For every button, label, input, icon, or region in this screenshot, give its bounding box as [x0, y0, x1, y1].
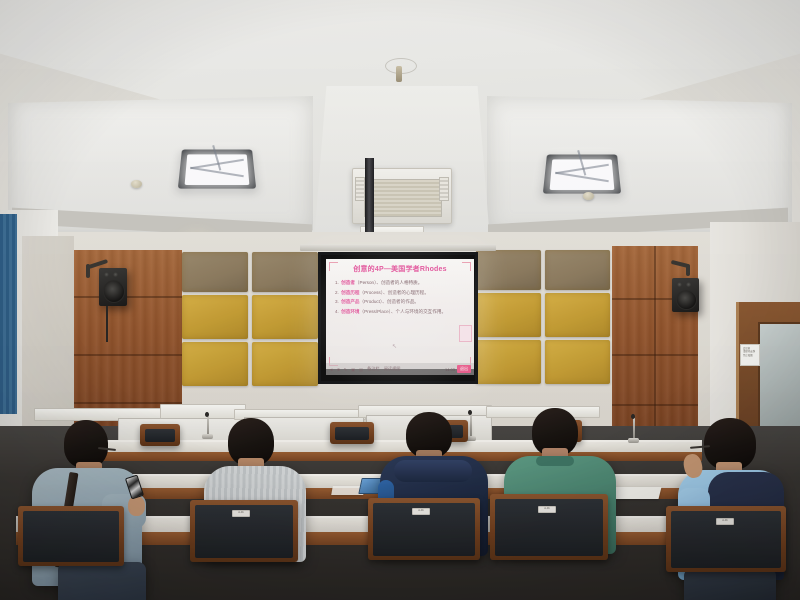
chair-number-tag: A-01: [412, 508, 430, 515]
speaker-tweeter-icon: [113, 272, 118, 277]
bullet-text: 、创造者的人格特质。: [376, 280, 422, 285]
bullet-keyword: 创造产品: [341, 299, 359, 304]
speaker-bracket-right-post: [686, 264, 690, 276]
acoustic-panel: [476, 250, 541, 290]
chair-tag-text: A-01: [539, 507, 555, 511]
chair-cushion: [335, 427, 369, 440]
ceiling-lamp-left: [180, 145, 254, 191]
bullet-english: （Product）: [360, 299, 383, 304]
window-curtain: [0, 214, 17, 414]
acoustic-panel: [545, 340, 610, 384]
taskbar-item-2[interactable]: ✎: [344, 367, 348, 372]
taskbar-notes-button[interactable]: 备注栏: [367, 366, 380, 372]
acoustic-panel: [545, 250, 610, 290]
smoke-detector-icon: [583, 192, 594, 200]
slide-bullet-list: 1. 创造者（Person）、创造者的人格特质。 2. 创造历程（Process…: [335, 279, 467, 317]
bullet-keyword: 创造历程: [341, 290, 359, 295]
slide-bullet-2: 2. 创造历程（Process）、创造者的心理历程。: [335, 289, 467, 296]
wood-seam: [74, 296, 182, 298]
chair-cushion: [23, 511, 119, 562]
wall-speaker-left: [99, 268, 127, 306]
acoustic-panel-grid-right: [476, 250, 614, 388]
taskbar-reading-view-button[interactable]: 阅读视图: [384, 366, 401, 372]
ceiling-hook-icon: [396, 66, 402, 82]
ac-vane: [439, 177, 449, 201]
speaker-woofer-icon: [676, 290, 697, 310]
taskbar-item-1[interactable]: ■: [337, 367, 340, 372]
chair-empty[interactable]: [330, 422, 374, 444]
wood-seam: [74, 354, 182, 356]
chair-tag-text: A-01: [233, 511, 249, 515]
speaker-tweeter-icon: [686, 282, 691, 287]
slide-bullet-3: 3. 创造产品（Product）、创造者的作品。: [335, 298, 467, 305]
slide-thumbnail-panel[interactable]: [459, 325, 472, 342]
acoustic-panel: [252, 295, 318, 339]
speaker-bracket-left-post: [86, 264, 90, 278]
chair-occupied[interactable]: A-01: [490, 494, 608, 560]
bullet-number: 4.: [335, 309, 339, 314]
ac-vane: [355, 177, 365, 201]
speaker-woofer-icon: [103, 280, 125, 303]
taskbar-clock: 14:03: [445, 367, 455, 372]
acoustic-panel: [545, 293, 610, 337]
acoustic-panel: [476, 340, 541, 384]
person-legs: [684, 568, 776, 600]
chair-occupied[interactable]: A-01: [368, 498, 480, 560]
left-wall-pillar: [22, 236, 74, 426]
mouse-cursor-icon: ↖: [392, 343, 397, 349]
gooseneck-microphone-stem: [633, 418, 635, 440]
wood-seam: [654, 246, 656, 432]
bullet-english: （Person）: [355, 280, 376, 285]
acoustic-panel: [252, 252, 318, 292]
bullet-number: 1.: [335, 280, 339, 285]
chair-occupied[interactable]: A-01: [190, 500, 298, 562]
bullet-english: （Process）: [360, 290, 383, 295]
bullet-number: 2.: [335, 290, 339, 295]
microphone-head-icon: [205, 412, 209, 417]
wood-wall-panel-left: [74, 250, 182, 426]
door-notice-line-3: 禁止吸烟: [743, 354, 757, 357]
bullet-english: （Press/Place）: [360, 309, 391, 314]
taskbar-item-3[interactable]: ▣: [351, 367, 355, 372]
smoke-detector-icon: [131, 180, 142, 188]
acoustic-panel: [182, 295, 248, 339]
chair-number-tag: A-01: [538, 506, 556, 513]
speaker-tweeter-icon: [677, 282, 682, 287]
door-notice-sign: 会议室 请保持安静 禁止吸烟: [740, 344, 760, 366]
conference-room-photo: 创意的4P—美国学者Rhodes 1. 创造者（Person）、创造者的人格特质…: [0, 0, 800, 600]
ac-grille-icon: [364, 179, 442, 217]
jacket-hood: [394, 460, 472, 482]
acoustic-panel: [182, 342, 248, 386]
chair-number-tag: A-01: [716, 518, 734, 525]
person-legs: [58, 562, 146, 600]
chair-number-tag: A-01: [232, 510, 250, 517]
presentation-taskbar[interactable]: ◄ ■ ✎ ▣ ▤ 备注栏 阅读视图 14:03 退出: [326, 363, 474, 375]
presentation-slide: 创意的4P—美国学者Rhodes 1. 创造者（Person）、创造者的人格特质…: [326, 259, 474, 369]
ceiling-lamp-right: [545, 150, 619, 196]
speaker-cable-left: [106, 306, 108, 342]
slide-bullet-1: 1. 创造者（Person）、创造者的人格特质。: [335, 279, 467, 286]
bullet-number: 3.: [335, 299, 339, 304]
person-head: [64, 420, 108, 468]
screen-mount-bar: [300, 244, 496, 251]
acoustic-panel: [182, 252, 248, 292]
taskbar-item-0[interactable]: ◄: [329, 367, 333, 372]
slide-title: 创意的4P—美国学者Rhodes: [332, 264, 468, 274]
projection-screen: 创意的4P—美国学者Rhodes 1. 创造者（Person）、创造者的人格特质…: [318, 252, 478, 384]
bullet-text: 、个人与环境的交互作用。: [391, 309, 446, 314]
chair-tag-text: A-01: [413, 509, 429, 513]
acoustic-panel: [476, 293, 541, 337]
wall-speaker-right: [672, 278, 699, 312]
speaker-tweeter-icon: [104, 272, 109, 277]
microphone-head-icon: [631, 414, 635, 419]
microphone-base: [628, 438, 639, 443]
acoustic-panel-grid-left: [182, 252, 322, 390]
taskbar-item-4[interactable]: ▤: [359, 367, 363, 372]
chair-occupied[interactable]: A-01: [666, 506, 786, 572]
bullet-text: 、创造者的心理历程。: [383, 290, 429, 295]
bullet-keyword: 创造环境: [341, 309, 359, 314]
taskbar-right-group: 14:03 退出: [445, 365, 471, 373]
slide-bullet-4: 4. 创造环境（Press/Place）、个人与环境的交互作用。: [335, 308, 467, 315]
door-glass-panel: [758, 322, 800, 428]
projector-mount-pole: [365, 158, 374, 240]
taskbar-exit-badge[interactable]: 退出: [457, 365, 471, 373]
bullet-text: 、创造者的作品。: [382, 299, 419, 304]
acoustic-panel: [252, 342, 318, 386]
person-hand: [128, 496, 145, 516]
polo-collar: [536, 456, 574, 466]
chair-occupied[interactable]: [18, 506, 124, 566]
chair-tag-text: A-01: [717, 519, 733, 523]
bullet-keyword: 创造者: [341, 280, 355, 285]
